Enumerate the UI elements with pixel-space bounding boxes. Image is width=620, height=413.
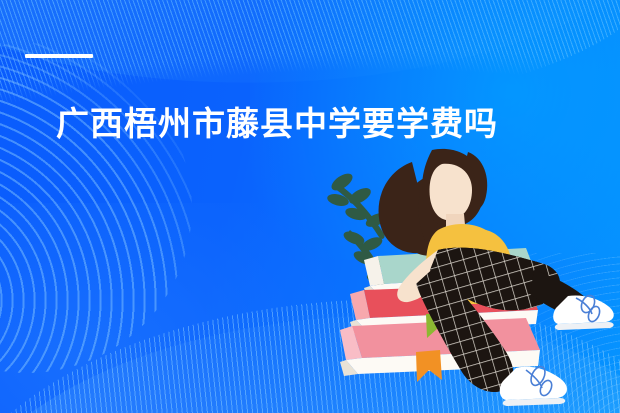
title-divider-rule [25, 54, 93, 58]
article-header-banner: 广西梧州市藤县中学要学费吗 [0, 0, 620, 413]
bookmark-bottom [416, 350, 442, 382]
hero-illustration [320, 138, 620, 413]
